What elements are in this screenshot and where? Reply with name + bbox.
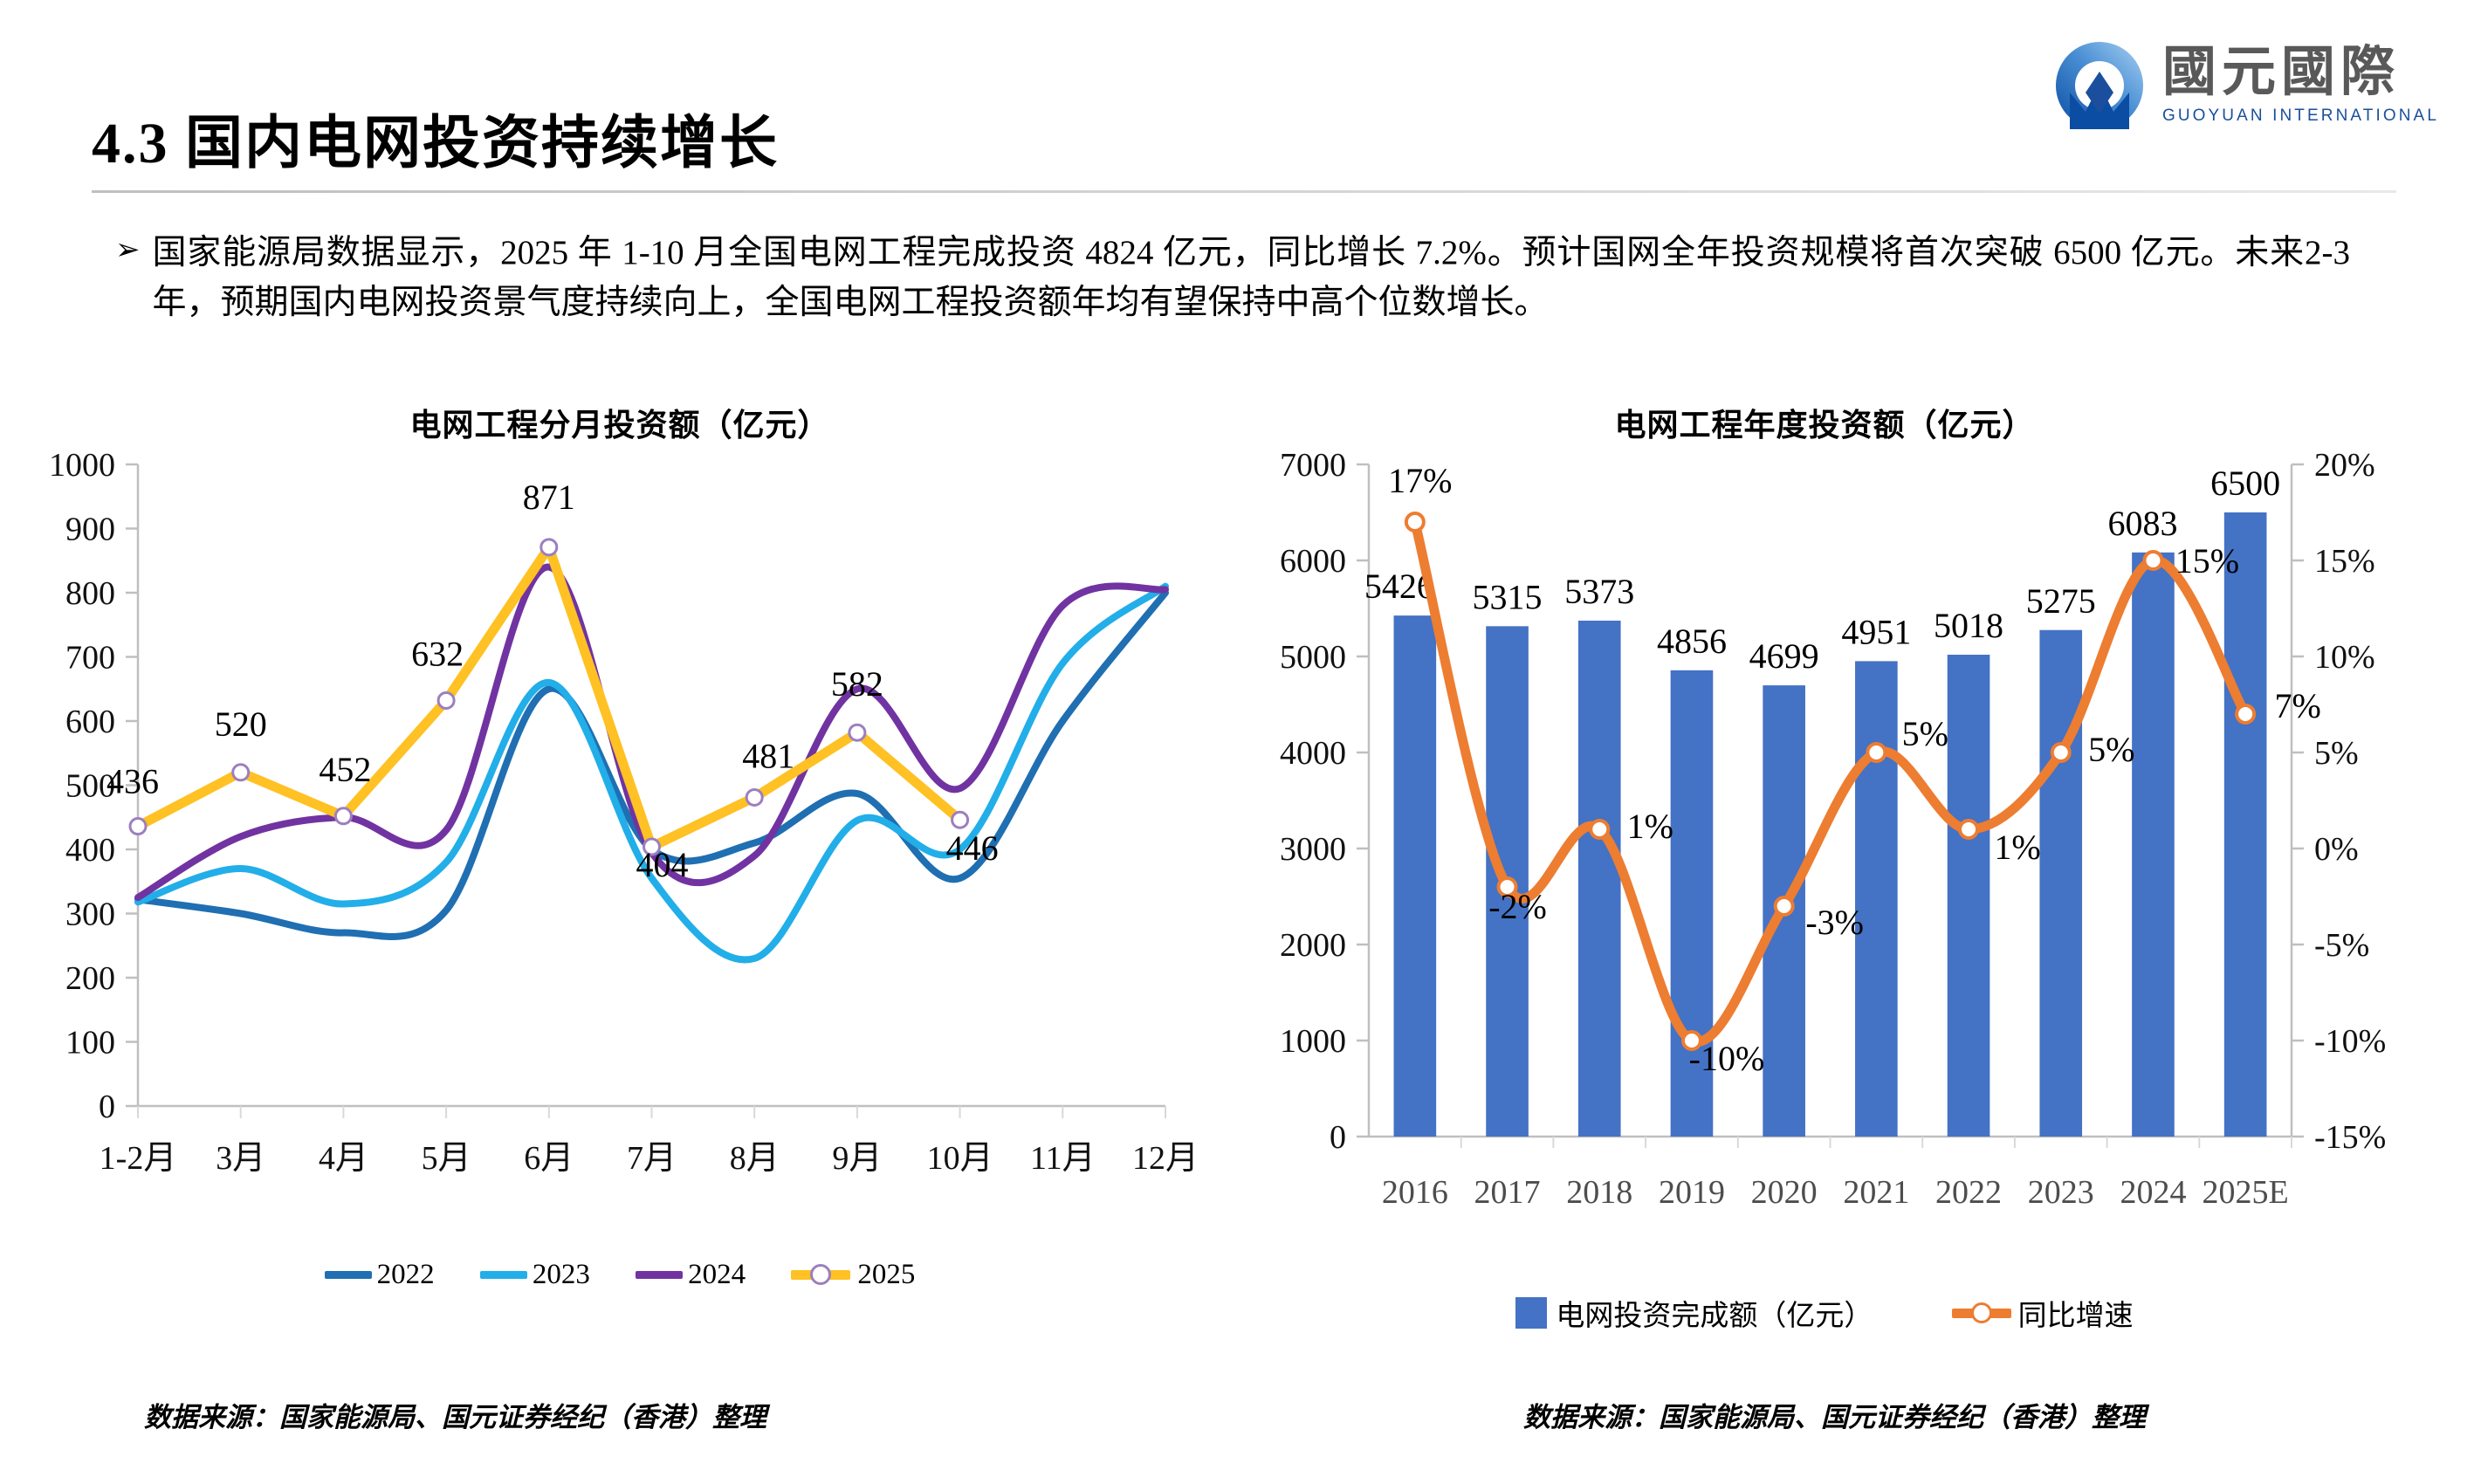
data-label: 436 xyxy=(107,762,159,801)
bar-2016 xyxy=(1394,615,1437,1137)
left-chart-legend: 2022 2023 2024 2025 xyxy=(35,1257,1205,1291)
x-tick-label: 2023 xyxy=(2028,1174,2094,1211)
data-point-marker xyxy=(233,765,249,780)
bar-2023 xyxy=(2039,630,2082,1137)
y-tick-label: 2000 xyxy=(1280,927,1346,964)
x-tick-label: 10月 xyxy=(927,1140,993,1177)
data-label: 871 xyxy=(523,477,575,517)
bullet-text: 国家能源局数据显示，2025 年 1-10 月全国电网工程完成投资 4824 亿… xyxy=(153,229,2351,327)
y-tick-label: 800 xyxy=(65,575,115,612)
right-chart-source: 数据来源：国家能源局、国元证券经纪（香港）整理 xyxy=(1523,1395,2146,1434)
data-point-marker xyxy=(1776,897,1793,915)
x-tick-label: 2017 xyxy=(1474,1174,1541,1211)
title-divider xyxy=(92,190,2396,193)
legend-label-investment-amount: 电网投资完成额（亿元） xyxy=(1556,1292,1873,1334)
data-point-marker xyxy=(335,808,351,824)
legend-label-growth-rate: 同比增速 xyxy=(2018,1292,2134,1334)
y2-tick-label: 20% xyxy=(2314,447,2375,484)
y2-tick-label: -5% xyxy=(2314,927,2369,964)
legend-swatch-2025 xyxy=(791,1270,850,1280)
x-tick-label: 2018 xyxy=(1566,1174,1632,1211)
y-tick-label: 400 xyxy=(65,832,115,869)
logo-wordmark: 國元國際 GUOYUAN INTERNATIONAL xyxy=(2162,45,2439,126)
growth-rate-label: 5% xyxy=(1902,714,1948,753)
y-tick-label: 300 xyxy=(65,897,115,933)
growth-rate-label: -3% xyxy=(1805,903,1864,942)
bar-value-label: 4856 xyxy=(1657,622,1727,661)
series-line-2023 xyxy=(138,587,1165,960)
data-point-marker xyxy=(1867,744,1885,761)
bar-value-label: 5275 xyxy=(2026,581,2096,621)
bar-value-label: 4699 xyxy=(1749,636,1819,676)
logo-chinese-name: 國元國際 xyxy=(2162,45,2439,100)
y2-tick-label: 5% xyxy=(2314,735,2359,772)
bar-value-label: 6083 xyxy=(2107,504,2177,543)
x-tick-label: 3月 xyxy=(216,1140,265,1177)
data-point-marker xyxy=(1406,513,1424,531)
monthly-investment-chart-panel: 电网工程分月投资额（亿元） 01002003004005006007008009… xyxy=(35,384,1205,1362)
y2-tick-label: 15% xyxy=(2314,543,2375,580)
data-point-marker xyxy=(849,725,865,740)
legend-label-2023: 2023 xyxy=(533,1259,590,1291)
x-tick-label: 2024 xyxy=(2120,1174,2186,1211)
y-tick-label: 100 xyxy=(65,1025,115,1061)
x-tick-label: 7月 xyxy=(627,1140,677,1177)
legend-swatch-investment-amount xyxy=(1515,1297,1547,1329)
x-tick-label: 2021 xyxy=(1843,1174,1909,1211)
y-tick-label: 3000 xyxy=(1280,831,1346,868)
page-title: 4.3 国内电网投资持续增长 xyxy=(92,96,779,180)
annual-investment-chart-panel: 电网工程年度投资额（亿元） 01000200030004000500060007… xyxy=(1240,384,2409,1362)
x-tick-label: 2022 xyxy=(1935,1174,2002,1211)
bar-value-label: 5018 xyxy=(1934,606,2003,645)
data-point-marker xyxy=(2052,744,2070,761)
x-tick-label: 2016 xyxy=(1382,1174,1448,1211)
data-point-marker xyxy=(952,812,968,828)
bar-value-label: 4951 xyxy=(1841,612,1911,651)
legend-item-2024[interactable]: 2024 xyxy=(636,1259,746,1291)
legend-item-investment-amount[interactable]: 电网投资完成额（亿元） xyxy=(1515,1292,1873,1334)
legend-label-2024: 2024 xyxy=(688,1259,746,1291)
growth-rate-label: 1% xyxy=(1627,807,1673,846)
y2-tick-label: 10% xyxy=(2314,639,2375,676)
y-tick-label: 200 xyxy=(65,960,115,997)
legend-label-2022: 2022 xyxy=(377,1259,435,1291)
y2-tick-label: -15% xyxy=(2314,1119,2386,1156)
right-chart-plot: 01000200030004000500060007000-15%-10%-5%… xyxy=(1240,447,2409,1233)
y2-tick-label: 0% xyxy=(2314,831,2359,868)
growth-rate-label: -2% xyxy=(1488,887,1547,926)
x-tick-label: 6月 xyxy=(524,1140,574,1177)
legend-item-growth-rate[interactable]: 同比增速 xyxy=(1952,1292,2134,1334)
y-tick-label: 4000 xyxy=(1280,735,1346,772)
bullet-arrow-icon: ➢ xyxy=(115,229,141,271)
data-point-marker xyxy=(2144,552,2161,569)
data-label: 582 xyxy=(831,664,883,704)
data-label: 446 xyxy=(946,828,999,868)
growth-rate-label: 15% xyxy=(2175,541,2239,581)
bar-2022 xyxy=(1948,655,1990,1137)
y-tick-label: 0 xyxy=(99,1089,115,1125)
legend-swatch-2023 xyxy=(480,1271,527,1279)
bar-value-label: 5373 xyxy=(1564,572,1634,611)
data-point-marker xyxy=(1960,821,1977,838)
legend-swatch-growth-rate xyxy=(1952,1309,2011,1318)
growth-rate-label: 7% xyxy=(2274,686,2320,725)
growth-rate-label: -10% xyxy=(1689,1039,1765,1078)
data-point-marker xyxy=(2237,705,2254,723)
data-label: 632 xyxy=(411,634,464,673)
x-tick-label: 11月 xyxy=(1030,1140,1096,1177)
x-tick-label: 2019 xyxy=(1659,1174,1725,1211)
legend-item-2023[interactable]: 2023 xyxy=(480,1259,590,1291)
data-point-marker xyxy=(130,819,146,835)
y2-tick-label: -10% xyxy=(2314,1023,2386,1060)
legend-item-2025[interactable]: 2025 xyxy=(791,1259,915,1291)
left-chart-plot: 010020030040050060070080090010001-2月3月4月… xyxy=(35,447,1205,1233)
company-logo: 國元國際 GUOYUAN INTERNATIONAL xyxy=(2052,35,2439,135)
x-tick-label: 2020 xyxy=(1751,1174,1818,1211)
bullet-paragraph: ➢ 国家能源局数据显示，2025 年 1-10 月全国电网工程完成投资 4824… xyxy=(115,229,2350,327)
legend-swatch-2024 xyxy=(636,1271,683,1279)
right-chart-title: 电网工程年度投资额（亿元） xyxy=(1240,400,2409,445)
bar-2018 xyxy=(1578,621,1621,1137)
y-tick-label: 1000 xyxy=(1280,1023,1346,1060)
right-chart-legend: 电网投资完成额（亿元） 同比增速 xyxy=(1240,1292,2409,1334)
data-label: 520 xyxy=(215,704,267,744)
legend-swatch-2022 xyxy=(325,1271,372,1279)
y-tick-label: 700 xyxy=(65,640,115,677)
data-point-marker xyxy=(1591,821,1608,838)
data-point-marker xyxy=(541,539,557,555)
y-tick-label: 900 xyxy=(65,512,115,548)
slide-root: 4.3 国内电网投资持续增长 國元國際 GUOYUAN INTERNATI xyxy=(0,0,2474,1484)
y-tick-label: 0 xyxy=(1330,1119,1346,1156)
left-chart-source: 数据来源：国家能源局、国元证券经纪（香港）整理 xyxy=(144,1395,766,1434)
legend-item-2022[interactable]: 2022 xyxy=(325,1259,435,1291)
y-tick-label: 7000 xyxy=(1280,447,1346,484)
x-tick-label: 1-2月 xyxy=(100,1140,177,1177)
data-point-marker xyxy=(438,692,454,708)
bar-value-label: 5315 xyxy=(1473,577,1543,616)
data-label: 452 xyxy=(319,750,371,789)
data-label: 481 xyxy=(742,736,794,775)
logo-english-name: GUOYUAN INTERNATIONAL xyxy=(2162,106,2439,126)
legend-label-2025: 2025 xyxy=(857,1259,915,1291)
x-tick-label: 4月 xyxy=(319,1140,368,1177)
left-chart-title: 电网工程分月投资额（亿元） xyxy=(35,400,1205,445)
bar-value-label: 6500 xyxy=(2210,464,2280,503)
data-point-marker xyxy=(746,789,762,805)
y-tick-label: 5000 xyxy=(1280,639,1346,676)
growth-rate-label: 5% xyxy=(2088,730,2134,769)
x-tick-label: 2025E xyxy=(2203,1174,2289,1211)
y-tick-label: 1000 xyxy=(49,447,115,484)
guoyuan-circle-logo-icon xyxy=(2052,38,2147,133)
x-tick-label: 9月 xyxy=(832,1140,882,1177)
growth-rate-label: 17% xyxy=(1388,461,1452,500)
bar-2021 xyxy=(1855,661,1898,1137)
bar-2024 xyxy=(2132,553,2175,1137)
y-tick-label: 6000 xyxy=(1280,543,1346,580)
x-tick-label: 5月 xyxy=(422,1140,471,1177)
growth-rate-label: 1% xyxy=(1994,828,2040,867)
y-tick-label: 600 xyxy=(65,704,115,740)
x-tick-label: 12月 xyxy=(1132,1140,1199,1177)
bar-2025E xyxy=(2224,512,2267,1137)
x-tick-label: 8月 xyxy=(730,1140,780,1177)
data-label: 404 xyxy=(636,845,689,884)
